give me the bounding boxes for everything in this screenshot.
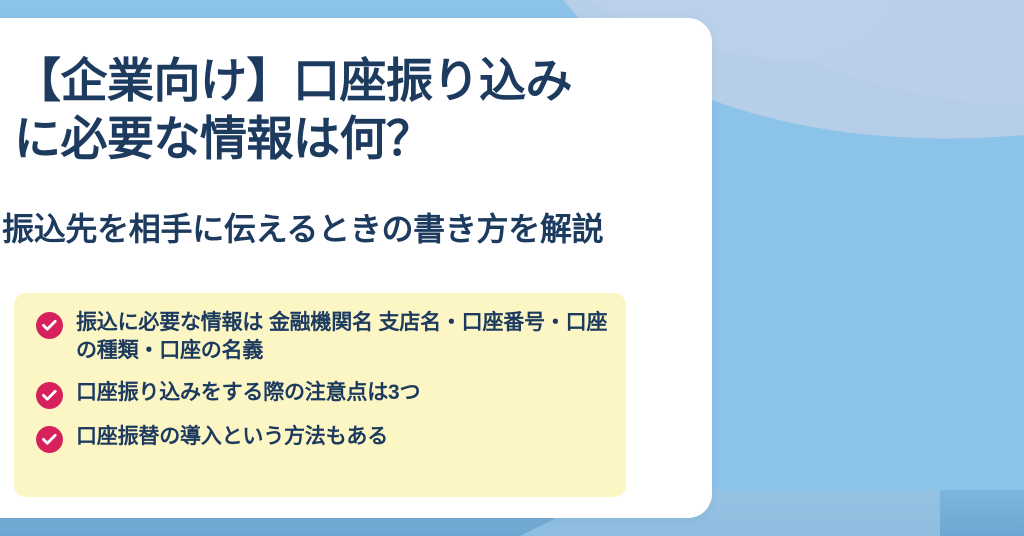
content-card: 【企業向け】口座振り込み に必要な情報は何？ 振込先を相手に伝えるときの書き方を… (0, 18, 712, 518)
banner-stage: 【企業向け】口座振り込み に必要な情報は何？ 振込先を相手に伝えるときの書き方を… (0, 0, 1024, 536)
highlights-panel: 振込に必要な情報は 金融機関名 支店名・口座番号・口座の種類・口座の名義 口座振… (14, 293, 626, 497)
page-title: 【企業向け】口座振り込み に必要な情報は何？ (14, 52, 694, 169)
content-card-inner: 【企業向け】口座振り込み に必要な情報は何？ 振込先を相手に伝えるときの書き方を… (0, 18, 690, 518)
page-subtitle: 振込先を相手に伝えるときの書き方を解説 (2, 210, 692, 248)
list-item-label: 振込に必要な情報は 金融機関名 支店名・口座番号・口座の種類・口座の名義 (76, 309, 612, 365)
check-circle-icon (36, 426, 63, 453)
list-item: 口座振り込みをする際の注意点は3つ (36, 379, 612, 409)
list-item: 口座振替の導入という方法もある (36, 423, 612, 453)
check-circle-icon (36, 312, 63, 339)
list-item-label: 口座振り込みをする際の注意点は3つ (76, 379, 420, 407)
list-item: 振込に必要な情報は 金融機関名 支店名・口座番号・口座の種類・口座の名義 (36, 309, 612, 365)
list-item-label: 口座振替の導入という方法もある (76, 423, 388, 451)
check-circle-icon (36, 382, 63, 409)
highlights-list: 振込に必要な情報は 金融機関名 支店名・口座番号・口座の種類・口座の名義 口座振… (36, 309, 612, 453)
